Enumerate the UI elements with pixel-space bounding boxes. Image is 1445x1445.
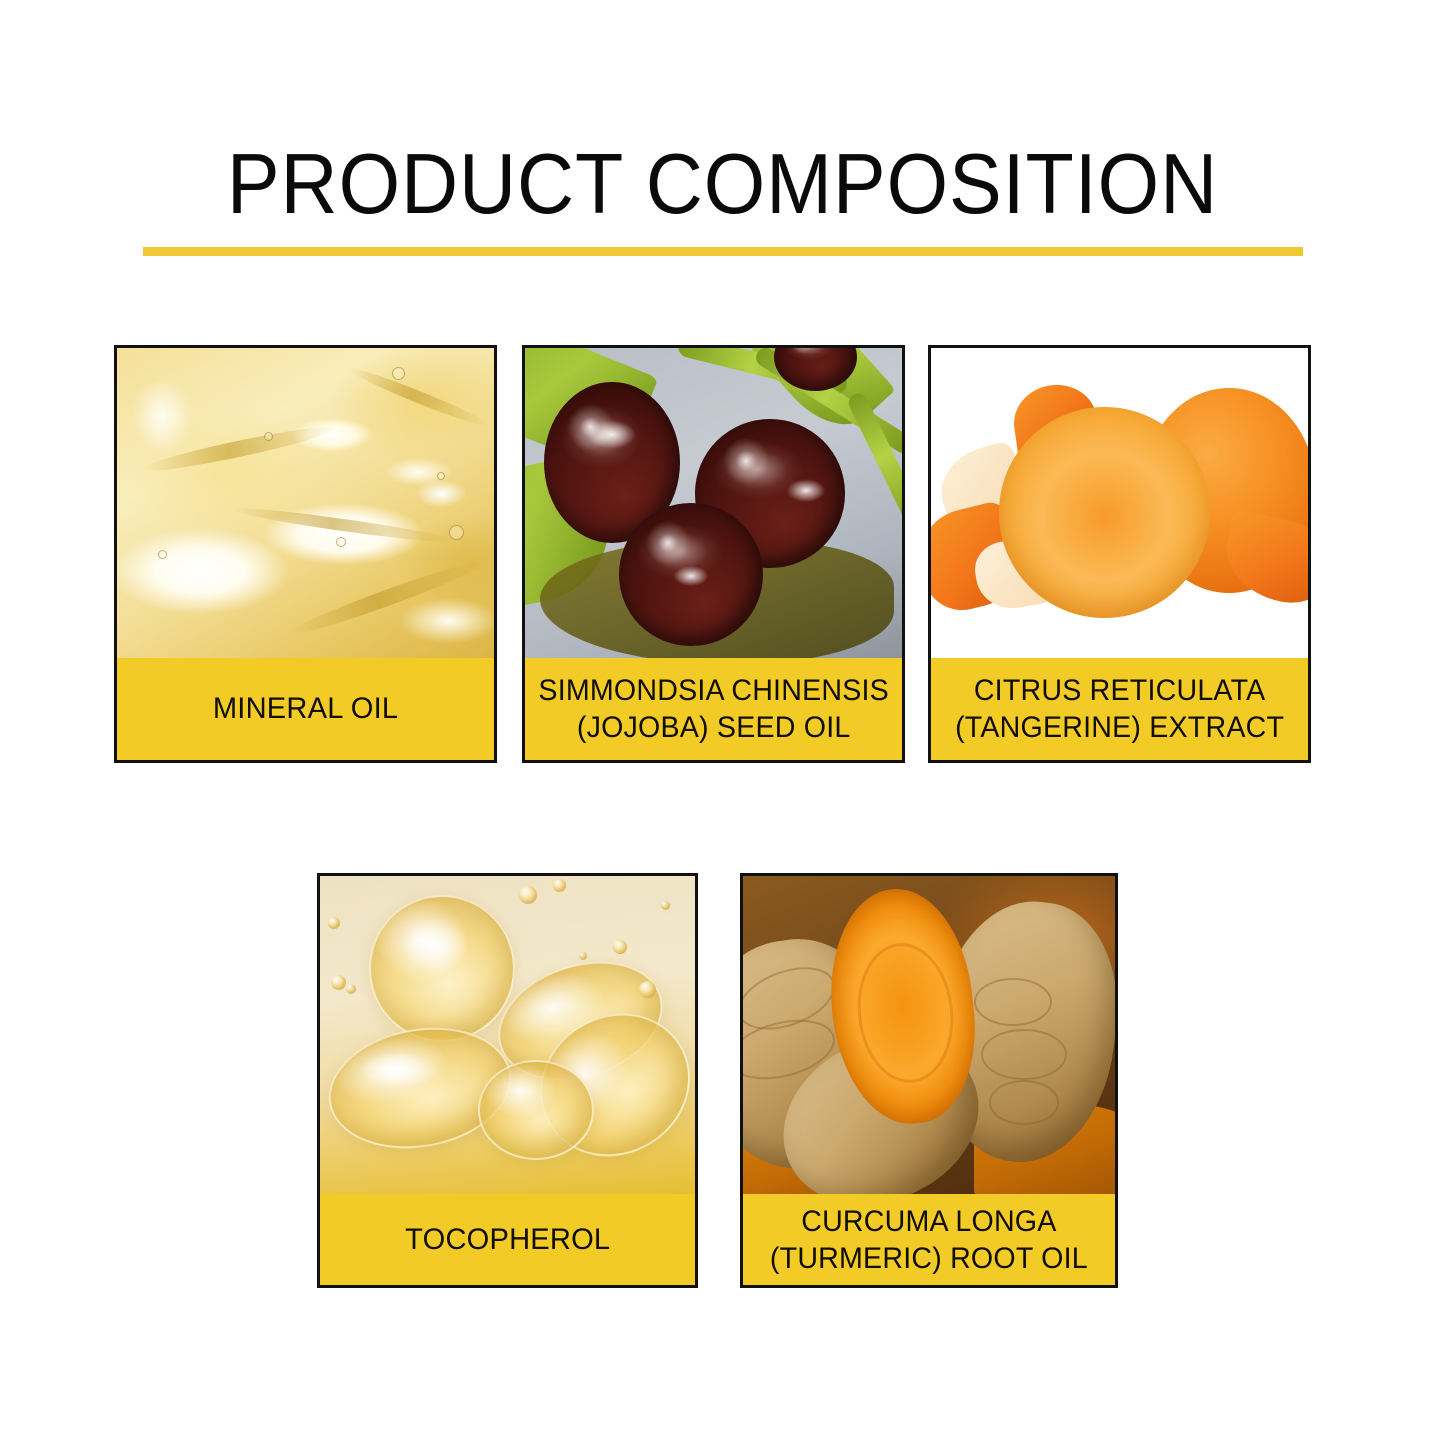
ingredient-card-mineral-oil[interactable]: MINERAL OIL bbox=[114, 345, 497, 763]
oil-bubble bbox=[158, 550, 167, 559]
capsule-highlight bbox=[403, 917, 471, 974]
ingredient-label-band: TOCOPHEROL bbox=[320, 1194, 695, 1285]
oil-swirl-texture bbox=[117, 348, 494, 658]
tangerine-photo bbox=[931, 348, 1308, 658]
oil-droplet bbox=[328, 917, 340, 929]
capsule-highlight bbox=[358, 1051, 441, 1089]
peeled-tangerine-segments bbox=[999, 407, 1210, 618]
oil-bubble bbox=[264, 432, 273, 441]
berry-highlight bbox=[785, 478, 826, 503]
oil-droplet bbox=[519, 886, 537, 904]
oil-droplet bbox=[639, 981, 656, 998]
jojoba-berries-photo bbox=[525, 348, 902, 658]
tocopherol-capsules-photo bbox=[320, 876, 695, 1194]
page-header: PRODUCT COMPOSITION bbox=[0, 0, 1445, 300]
ingredient-card-tangerine[interactable]: CITRUS RETICULATA (TANGERINE) EXTRACT bbox=[928, 345, 1311, 763]
oil-bubble bbox=[392, 367, 405, 380]
gel-capsule bbox=[478, 1060, 595, 1159]
ingredient-label-band: SIMMONDSIA CHINENSIS (JOJOBA) SEED OIL bbox=[525, 658, 902, 760]
ingredient-label-band: CITRUS RETICULATA (TANGERINE) EXTRACT bbox=[931, 658, 1308, 760]
title-underline-rule bbox=[143, 247, 1303, 256]
ingredient-label-text: MINERAL OIL bbox=[207, 691, 404, 727]
mineral-oil-photo bbox=[117, 348, 494, 658]
oil-droplet bbox=[331, 975, 346, 990]
rhizome-ring bbox=[974, 978, 1052, 1027]
turmeric-root-photo bbox=[743, 876, 1115, 1194]
oil-bubble bbox=[449, 525, 464, 540]
rhizome-ring bbox=[981, 1029, 1067, 1081]
oil-bubble bbox=[336, 537, 346, 547]
ingredient-label-text: CITRUS RETICULATA (TANGERINE) EXTRACT bbox=[949, 672, 1290, 746]
rhizome-ring bbox=[989, 1080, 1060, 1125]
ingredient-card-tocopherol[interactable]: TOCOPHEROL bbox=[317, 873, 698, 1288]
page-title: PRODUCT COMPOSITION bbox=[51, 140, 1395, 230]
ingredient-label-text: CURCUMA LONGA (TURMERIC) ROOT OIL bbox=[764, 1203, 1094, 1277]
berry-highlight bbox=[672, 565, 710, 587]
ingredient-card-jojoba[interactable]: SIMMONDSIA CHINENSIS (JOJOBA) SEED OIL bbox=[522, 345, 905, 763]
ingredient-label-band: CURCUMA LONGA (TURMERIC) ROOT OIL bbox=[743, 1194, 1115, 1285]
ingredient-label-text: TOCOPHEROL bbox=[399, 1222, 616, 1258]
oil-droplet bbox=[553, 879, 566, 892]
ingredient-card-turmeric[interactable]: CURCUMA LONGA (TURMERIC) ROOT OIL bbox=[740, 873, 1118, 1288]
ingredient-label-band: MINERAL OIL bbox=[117, 658, 494, 760]
oil-droplet bbox=[613, 940, 627, 954]
ingredient-label-text: SIMMONDSIA CHINENSIS (JOJOBA) SEED OIL bbox=[532, 672, 894, 746]
